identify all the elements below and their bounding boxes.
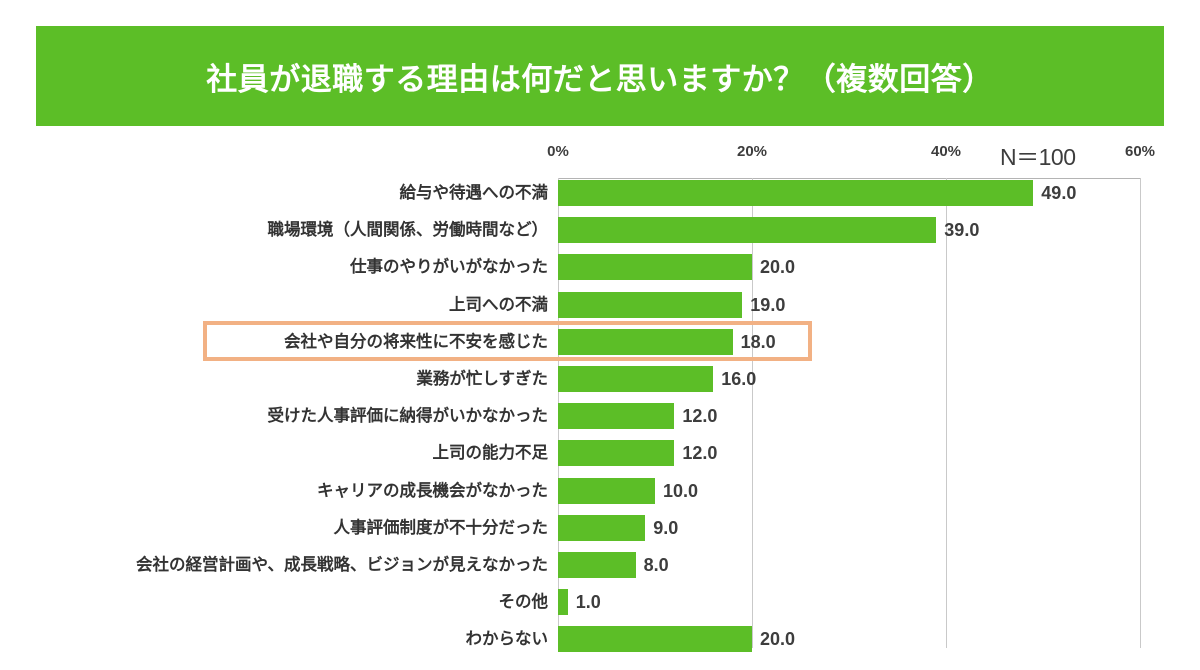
- category-label: 会社の経営計画や、成長戦略、ビジョンが見えなかった: [20, 552, 548, 578]
- bar-row: 業務が忙しすぎた16.0: [0, 366, 1200, 392]
- bar-row: 会社や自分の将来性に不安を感じた18.0: [0, 329, 1200, 355]
- bar-row: 上司への不満19.0: [0, 292, 1200, 318]
- bar: [558, 292, 742, 318]
- category-label: 受けた人事評価に納得がいかなかった: [20, 403, 548, 429]
- bar-row: 会社の経営計画や、成長戦略、ビジョンが見えなかった8.0: [0, 552, 1200, 578]
- bar: [558, 626, 752, 652]
- bar: [558, 589, 568, 615]
- bar-value-label: 39.0: [944, 217, 979, 243]
- bar: [558, 180, 1033, 206]
- bar: [558, 478, 655, 504]
- bar: [558, 254, 752, 280]
- x-axis-tick-40: 40%: [931, 143, 961, 160]
- bar-value-label: 18.0: [741, 329, 776, 355]
- bar-value-label: 20.0: [760, 254, 795, 280]
- bar: [558, 366, 713, 392]
- chart-header-band: 社員が退職する理由は何だと思いますか？（複数回答）: [36, 26, 1164, 126]
- bar-row: その他1.0: [0, 589, 1200, 615]
- bar-row: キャリアの成長機会がなかった10.0: [0, 478, 1200, 504]
- category-label: キャリアの成長機会がなかった: [20, 478, 548, 504]
- category-label: 職場環境（人間関係、労働時間など）: [20, 217, 548, 243]
- bar-row: 受けた人事評価に納得がいかなかった12.0: [0, 403, 1200, 429]
- bar-row: 給与や待遇への不満49.0: [0, 180, 1200, 206]
- category-label: 仕事のやりがいがなかった: [20, 254, 548, 280]
- category-label: 上司への不満: [20, 292, 548, 318]
- bar-value-label: 49.0: [1041, 180, 1076, 206]
- category-label: 上司の能力不足: [20, 440, 548, 466]
- bar-row: 上司の能力不足12.0: [0, 440, 1200, 466]
- bar: [558, 515, 645, 541]
- x-axis-tick-20: 20%: [737, 143, 767, 160]
- bar: [558, 403, 674, 429]
- sample-size-annotation: N＝100: [1000, 138, 1075, 172]
- bar: [558, 329, 733, 355]
- bar-value-label: 20.0: [760, 626, 795, 652]
- category-label: 会社や自分の将来性に不安を感じた: [20, 329, 548, 355]
- bar-value-label: 12.0: [682, 403, 717, 429]
- bar: [558, 217, 936, 243]
- bar-value-label: 8.0: [644, 552, 669, 578]
- bar-row: 職場環境（人間関係、労働時間など）39.0: [0, 217, 1200, 243]
- bar: [558, 552, 636, 578]
- x-axis-tick-60: 60%: [1125, 143, 1155, 160]
- category-label: 業務が忙しすぎた: [20, 366, 548, 392]
- bar-value-label: 19.0: [750, 292, 785, 318]
- bar-value-label: 12.0: [682, 440, 717, 466]
- bar-row: 仕事のやりがいがなかった20.0: [0, 254, 1200, 280]
- category-label: 給与や待遇への不満: [20, 180, 548, 206]
- bar-value-label: 9.0: [653, 515, 678, 541]
- x-axis-tick-0: 0%: [547, 143, 569, 160]
- bar: [558, 440, 674, 466]
- category-label: その他: [20, 589, 548, 615]
- bar-row: 人事評価制度が不十分だった9.0: [0, 515, 1200, 541]
- bar-value-label: 10.0: [663, 478, 698, 504]
- chart-root: 社員が退職する理由は何だと思いますか？（複数回答） 0%20%40%60% N＝…: [0, 0, 1200, 670]
- category-label: わからない: [20, 626, 548, 652]
- bar-value-label: 16.0: [721, 366, 756, 392]
- bar-row: わからない20.0: [0, 626, 1200, 652]
- category-label: 人事評価制度が不十分だった: [20, 515, 548, 541]
- bar-value-label: 1.0: [576, 589, 601, 615]
- page-title: 社員が退職する理由は何だと思いますか？（複数回答）: [206, 54, 994, 99]
